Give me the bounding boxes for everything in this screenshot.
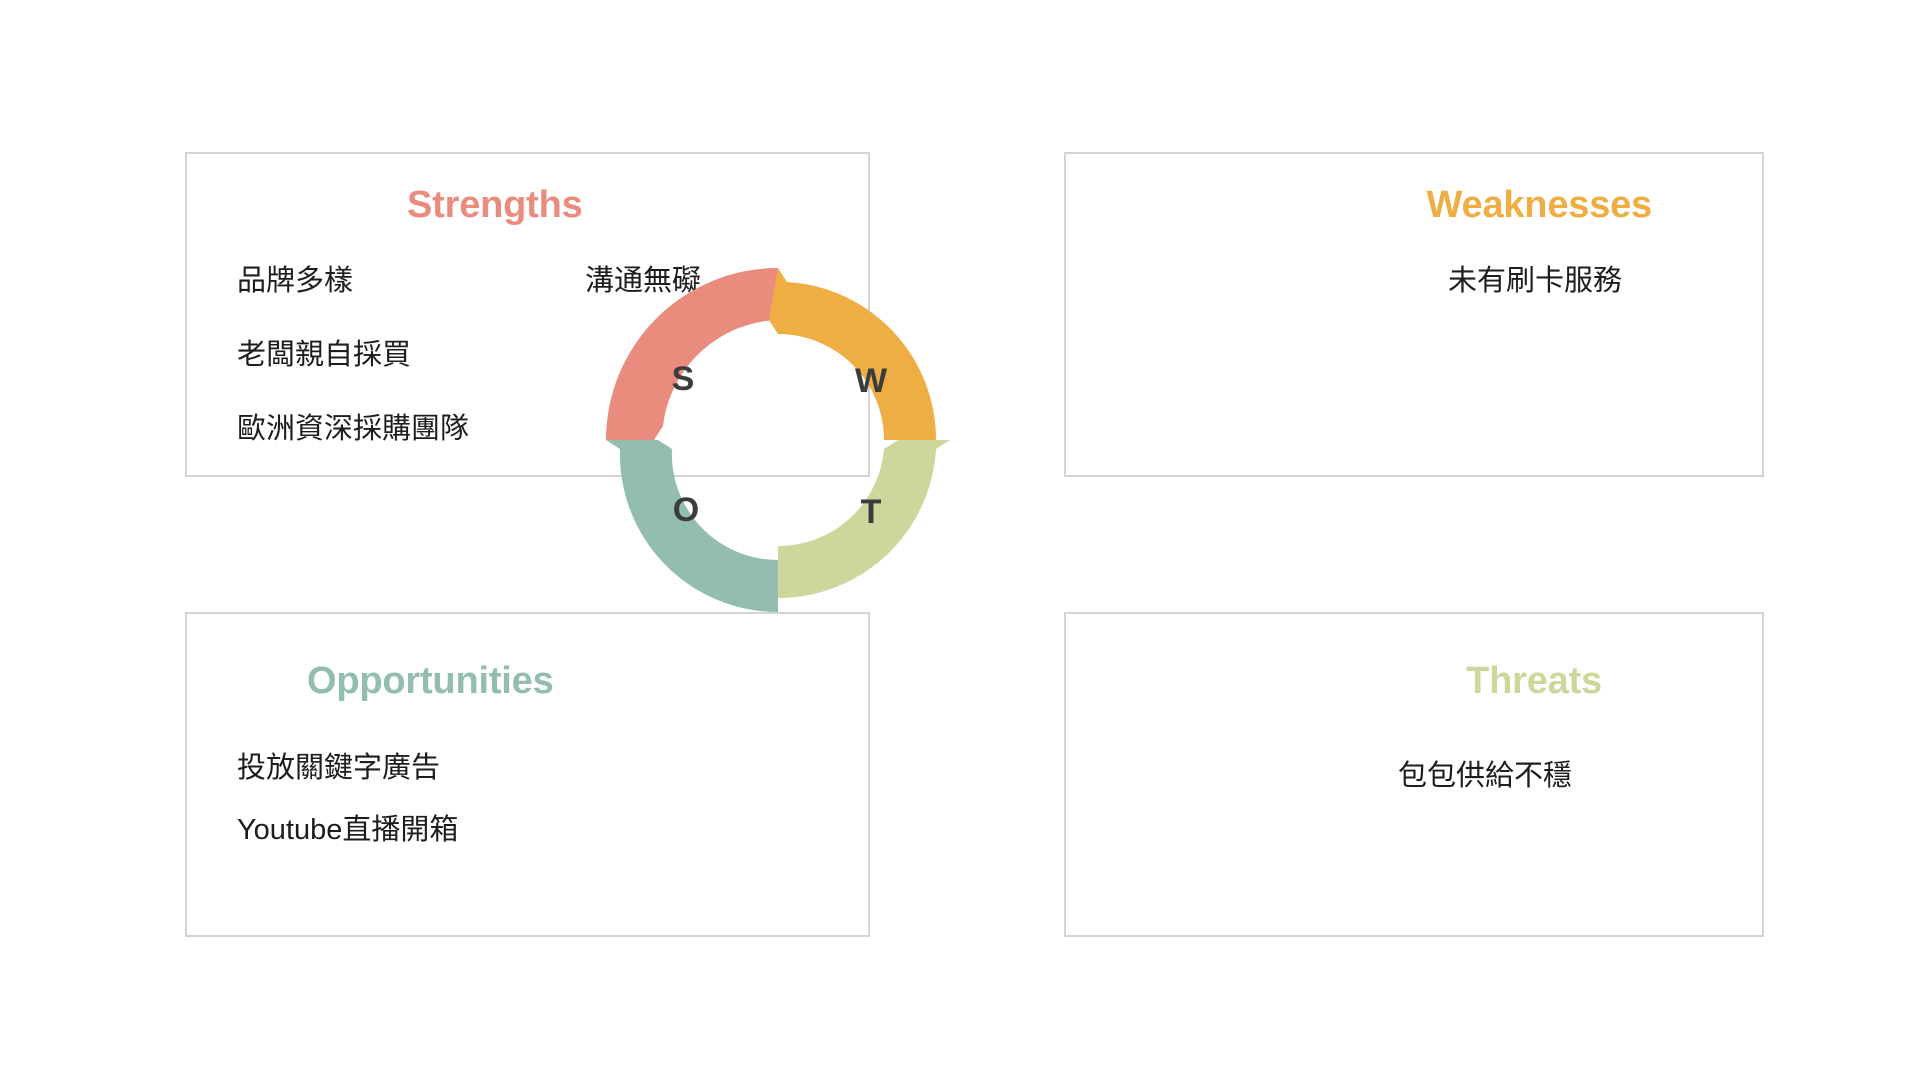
opportunities-item-2: Youtube直播開箱 xyxy=(237,816,458,845)
swot-diagram-canvas: Strengths 品牌多樣 溝通無礙 老闆親自採買 歐洲資深採購團隊 Weak… xyxy=(0,0,1920,1080)
strengths-item-1: 品牌多樣 xyxy=(237,267,353,296)
donut-segment-label-o: O xyxy=(673,491,699,529)
threats-item-1: 包包供給不穩 xyxy=(1398,762,1572,791)
donut-segment-label-w: W xyxy=(855,362,888,400)
donut-segment-weaknesses[interactable] xyxy=(769,268,936,440)
weaknesses-title: Weaknesses xyxy=(1427,186,1652,224)
quadrant-opportunities: Opportunities 投放關鍵字廣告 Youtube直播開箱 xyxy=(185,612,870,937)
donut-segment-strengths[interactable] xyxy=(606,268,778,440)
opportunities-title: Opportunities xyxy=(307,662,554,700)
donut-svg: S W T O xyxy=(588,250,968,630)
donut-segment-label-s: S xyxy=(672,360,695,398)
strengths-item-3: 歐洲資深採購團隊 xyxy=(237,415,469,444)
weaknesses-item-1: 未有刷卡服務 xyxy=(1448,267,1622,296)
donut-segment-label-t: T xyxy=(861,493,882,531)
swot-donut-chart: S W T O xyxy=(588,250,968,630)
opportunities-item-1: 投放關鍵字廣告 xyxy=(237,754,440,783)
threats-title: Threats xyxy=(1466,662,1602,700)
strengths-title: Strengths xyxy=(407,186,583,224)
quadrant-threats: Threats 包包供給不穩 xyxy=(1064,612,1764,937)
strengths-item-2: 老闆親自採買 xyxy=(237,341,411,370)
quadrant-weaknesses: Weaknesses 未有刷卡服務 xyxy=(1064,152,1764,477)
